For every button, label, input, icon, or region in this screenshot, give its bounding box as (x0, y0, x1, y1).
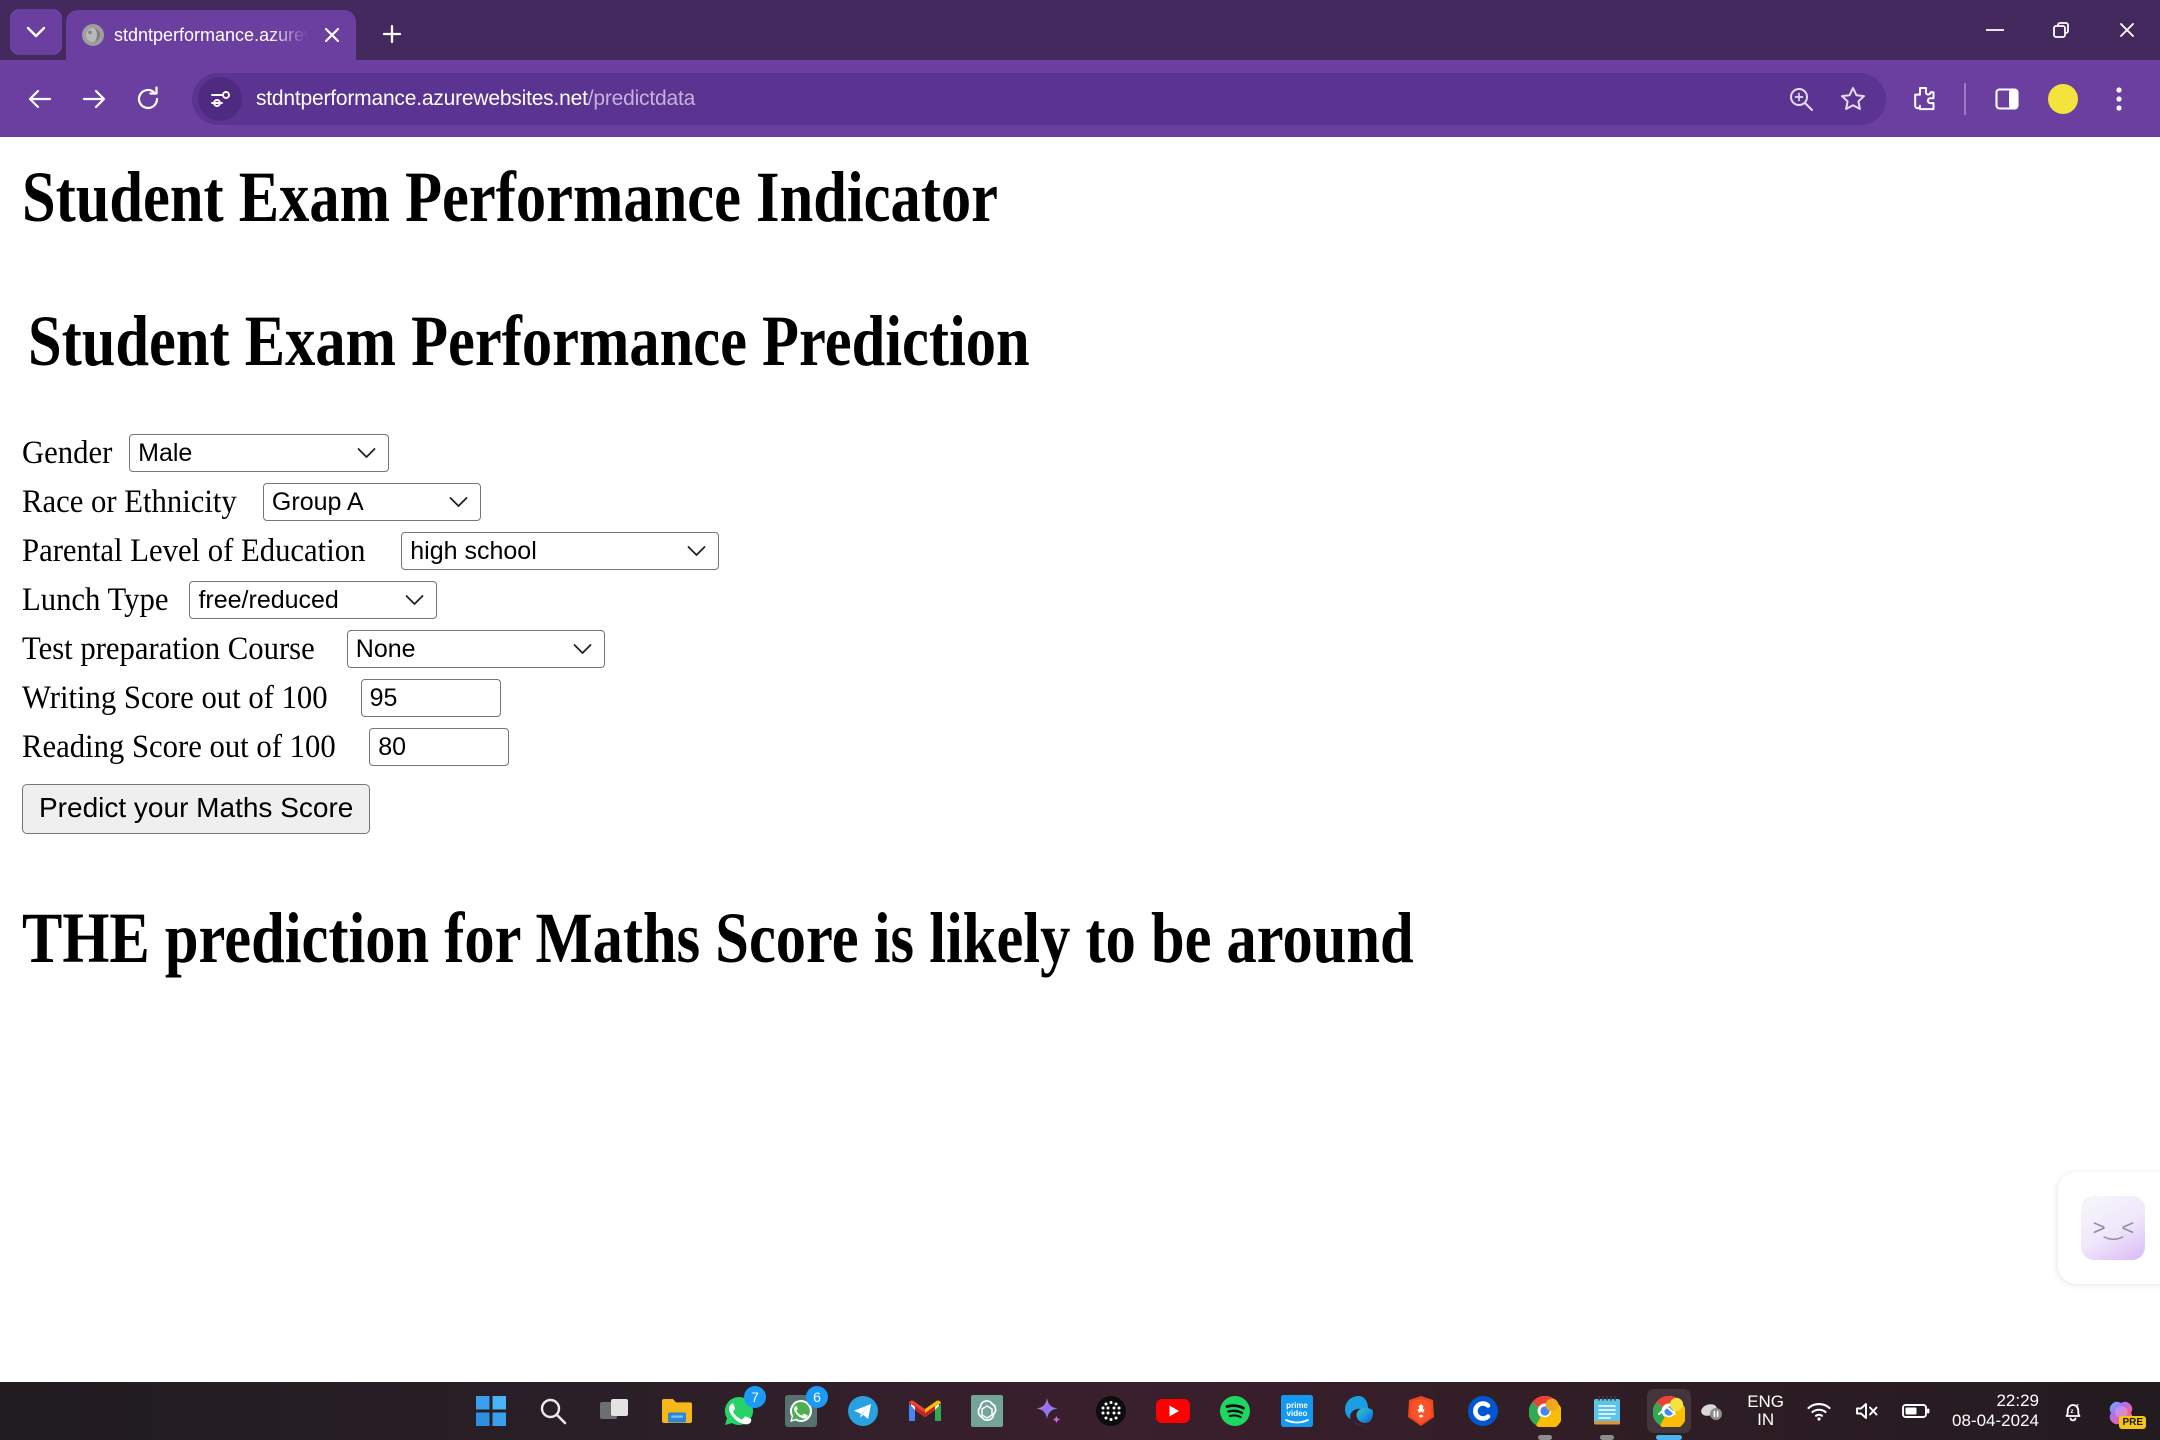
browser-window: stdntperformance.azurewebsite (0, 0, 2160, 1440)
svg-text:z: z (2070, 1408, 2074, 1415)
label-reading-score: Reading Score out of 100 (22, 731, 336, 764)
tab-strip: stdntperformance.azurewebsite (0, 0, 2160, 60)
clock-date: 08-04-2024 (1952, 1411, 2039, 1431)
battery-icon (1902, 1403, 1930, 1419)
tray-clock: 22:29 08-04-2024 (1952, 1391, 2039, 1430)
omnibox-actions (1776, 74, 1878, 124)
taskbar-item-telegram[interactable] (841, 1389, 885, 1433)
page-title: Student Exam Performance Indicator (22, 161, 1799, 233)
tray-media-button[interactable] (1688, 1389, 1736, 1433)
chevron-down-icon (687, 546, 706, 557)
taskbar-item-search[interactable] (531, 1389, 575, 1433)
back-button[interactable] (16, 75, 64, 123)
notepad-icon (1593, 1395, 1621, 1427)
submit-row: Predict your Maths Score (22, 778, 2138, 834)
prediction-form: Gender Male Race or Ethnicity Group A Pa… (22, 435, 2138, 834)
taskbar-item-whatsapp-business[interactable]: 6 (779, 1389, 823, 1433)
form-row-parental-education: Parental Level of Education high school (22, 533, 2138, 569)
youtube-icon (1156, 1399, 1190, 1423)
page-content: Student Exam Performance Indicator Stude… (0, 161, 2160, 974)
form-row-writing-score: Writing Score out of 100 (22, 680, 2138, 716)
reload-button[interactable] (124, 75, 172, 123)
arrow-left-icon (27, 87, 53, 111)
taskbar-running-indicator (1600, 1435, 1614, 1440)
chevron-down-icon (357, 448, 376, 459)
tray-clock-button[interactable]: 22:29 08-04-2024 (1941, 1389, 2050, 1433)
tray-battery-button[interactable] (1891, 1389, 1941, 1433)
chevron-down-icon (26, 26, 46, 38)
globe-icon (82, 24, 104, 46)
chrome-icon (1529, 1395, 1561, 1427)
taskbar-running-indicator (1538, 1435, 1552, 1440)
select-ethnicity[interactable]: Group A (263, 483, 481, 521)
form-row-test-prep: Test preparation Course None (22, 631, 2138, 667)
close-icon (2117, 20, 2137, 40)
toolbar-divider (1964, 83, 1966, 115)
tray-language-button[interactable]: ENG IN (1736, 1389, 1795, 1433)
select-test-prep-value: None (356, 635, 416, 664)
section-title: Student Exam Performance Prediction (28, 305, 1800, 377)
close-window-button[interactable] (2094, 0, 2160, 60)
bookmark-star-icon[interactable] (1828, 74, 1878, 124)
taskbar-item-task-view[interactable] (593, 1389, 637, 1433)
gemini-icon (1033, 1395, 1065, 1427)
taskbar-badge: 6 (806, 1386, 828, 1408)
system-tray: ENG IN (1646, 1382, 2148, 1440)
windows-start-icon (476, 1396, 506, 1426)
form-row-reading-score: Reading Score out of 100 (22, 729, 2138, 765)
taskbar-item-youtube[interactable] (1151, 1389, 1195, 1433)
floating-widget[interactable]: >‿< (2058, 1172, 2160, 1284)
windows-taskbar: 7 6 (0, 1382, 2160, 1440)
select-lunch[interactable]: free/reduced (189, 581, 437, 619)
spotify-icon (1219, 1395, 1251, 1427)
minimize-icon (1986, 29, 2004, 31)
coursera-icon (1467, 1395, 1499, 1427)
dots-circle-icon (1095, 1395, 1127, 1427)
select-gender-value: Male (138, 439, 192, 468)
side-panel-icon[interactable] (1982, 74, 2032, 124)
tray-language: ENG IN (1747, 1393, 1784, 1430)
taskbar-item-dots-circle[interactable] (1089, 1389, 1133, 1433)
volume-muted-icon (1854, 1401, 1880, 1421)
form-row-ethnicity: Race or Ethnicity Group A (22, 484, 2138, 520)
plus-icon (381, 23, 403, 45)
tab-title: stdntperformance.azurewebsite (114, 25, 308, 46)
url-text: stdntperformance.azurewebsites.net/predi… (256, 87, 695, 111)
label-parental-education: Parental Level of Education (22, 535, 365, 568)
site-settings-icon[interactable] (198, 77, 242, 121)
taskbar-item-gemini[interactable] (1027, 1389, 1071, 1433)
input-writing-score[interactable] (361, 679, 501, 717)
extensions-puzzle-icon[interactable] (1898, 74, 1948, 124)
minimize-button[interactable] (1962, 0, 2028, 60)
taskbar-item-start[interactable] (469, 1389, 513, 1433)
label-test-prep: Test preparation Course (22, 633, 315, 666)
chevron-down-icon (573, 644, 592, 655)
taskbar-item-whatsapp[interactable]: 7 (717, 1389, 761, 1433)
taskbar-item-brave[interactable] (1399, 1389, 1443, 1433)
tab-search-button[interactable] (10, 9, 62, 55)
select-parental-education-value: high school (410, 537, 536, 566)
chevron-down-icon (405, 595, 424, 606)
form-row-lunch: Lunch Type free/reduced (22, 582, 2138, 618)
maximize-button[interactable] (2028, 0, 2094, 60)
form-row-gender: Gender Male (22, 435, 2138, 471)
zoom-in-icon[interactable] (1776, 74, 1826, 124)
input-reading-score[interactable] (369, 728, 509, 766)
url-path: /predictdata (588, 87, 695, 110)
bell-dnd-icon: z z (2061, 1399, 2085, 1423)
profile-avatar[interactable] (2038, 74, 2088, 124)
arrow-right-icon (81, 87, 107, 111)
label-lunch: Lunch Type (22, 584, 168, 617)
taskbar-item-gmail[interactable] (903, 1389, 947, 1433)
wifi-icon (1806, 1401, 1832, 1421)
tray-overflow-button[interactable] (1646, 1389, 1688, 1433)
label-ethnicity: Race or Ethnicity (22, 486, 237, 519)
brave-icon (1406, 1395, 1436, 1427)
url-host: stdntperformance.azurewebsites.net (256, 87, 588, 110)
tray-notifications-button[interactable]: z z (2050, 1389, 2096, 1433)
select-gender[interactable]: Male (129, 434, 389, 472)
svg-text:z: z (2076, 1403, 2079, 1409)
chevron-down-icon (449, 497, 468, 508)
label-gender: Gender (22, 437, 112, 470)
select-parental-education[interactable]: high school (401, 532, 719, 570)
chatgpt-icon (971, 1395, 1003, 1427)
window-controls (1962, 0, 2160, 60)
taskbar-item-chatgpt[interactable] (965, 1389, 1009, 1433)
close-icon[interactable] (318, 21, 346, 49)
browser-toolbar: stdntperformance.azurewebsites.net/predi… (0, 60, 2160, 137)
browser-tab[interactable]: stdntperformance.azurewebsite (66, 10, 356, 60)
copilot-pre-badge: PRE (2119, 1416, 2146, 1429)
forward-button[interactable] (70, 75, 118, 123)
select-test-prep[interactable]: None (347, 630, 605, 668)
language-region: IN (1747, 1411, 1784, 1429)
label-writing-score: Writing Score out of 100 (22, 682, 328, 715)
gmail-icon (909, 1399, 941, 1423)
file-explorer-icon (661, 1397, 693, 1425)
new-tab-button[interactable] (370, 12, 414, 56)
svg-text:video: video (1287, 1409, 1308, 1418)
telegram-icon (847, 1395, 879, 1427)
predict-button[interactable]: Predict your Maths Score (22, 784, 370, 834)
tray-copilot-button[interactable]: PRE (2096, 1389, 2148, 1433)
taskbar-apps: 7 6 (469, 1382, 1691, 1440)
search-icon (538, 1396, 568, 1426)
select-lunch-value: free/reduced (198, 586, 338, 615)
taskbar-item-notepad[interactable] (1585, 1389, 1629, 1433)
taskbar-item-edge[interactable] (1337, 1389, 1381, 1433)
task-view-icon (600, 1398, 630, 1424)
taskbar-item-chrome[interactable] (1523, 1389, 1567, 1433)
reload-icon (135, 86, 161, 112)
select-ethnicity-value: Group A (272, 488, 364, 517)
kawaii-face-icon[interactable]: >‿< (2081, 1196, 2145, 1260)
taskbar-item-coursera[interactable] (1461, 1389, 1505, 1433)
taskbar-item-prime-video[interactable]: prime video (1275, 1389, 1319, 1433)
page-viewport: Student Exam Performance Indicator Stude… (0, 137, 2160, 1382)
avatar (2048, 84, 2078, 114)
taskbar-badge: 7 (744, 1386, 766, 1408)
tray-volume-button[interactable] (1843, 1389, 1891, 1433)
language-primary: ENG (1747, 1393, 1784, 1411)
chevron-up-icon (1657, 1405, 1677, 1417)
clock-time: 22:29 (1952, 1391, 2039, 1411)
address-bar[interactable]: stdntperformance.azurewebsites.net/predi… (192, 73, 1886, 125)
taskbar-item-file-explorer[interactable] (655, 1389, 699, 1433)
prediction-result-heading: THE prediction for Maths Score is likely… (22, 902, 1799, 974)
tray-wifi-button[interactable] (1795, 1389, 1843, 1433)
taskbar-item-spotify[interactable] (1213, 1389, 1257, 1433)
restore-icon (2051, 20, 2071, 40)
media-pause-icon (1699, 1401, 1725, 1421)
three-dot-menu-icon[interactable] (2094, 74, 2144, 124)
edge-icon (1343, 1395, 1375, 1427)
prime-video-icon: prime video (1281, 1395, 1313, 1427)
